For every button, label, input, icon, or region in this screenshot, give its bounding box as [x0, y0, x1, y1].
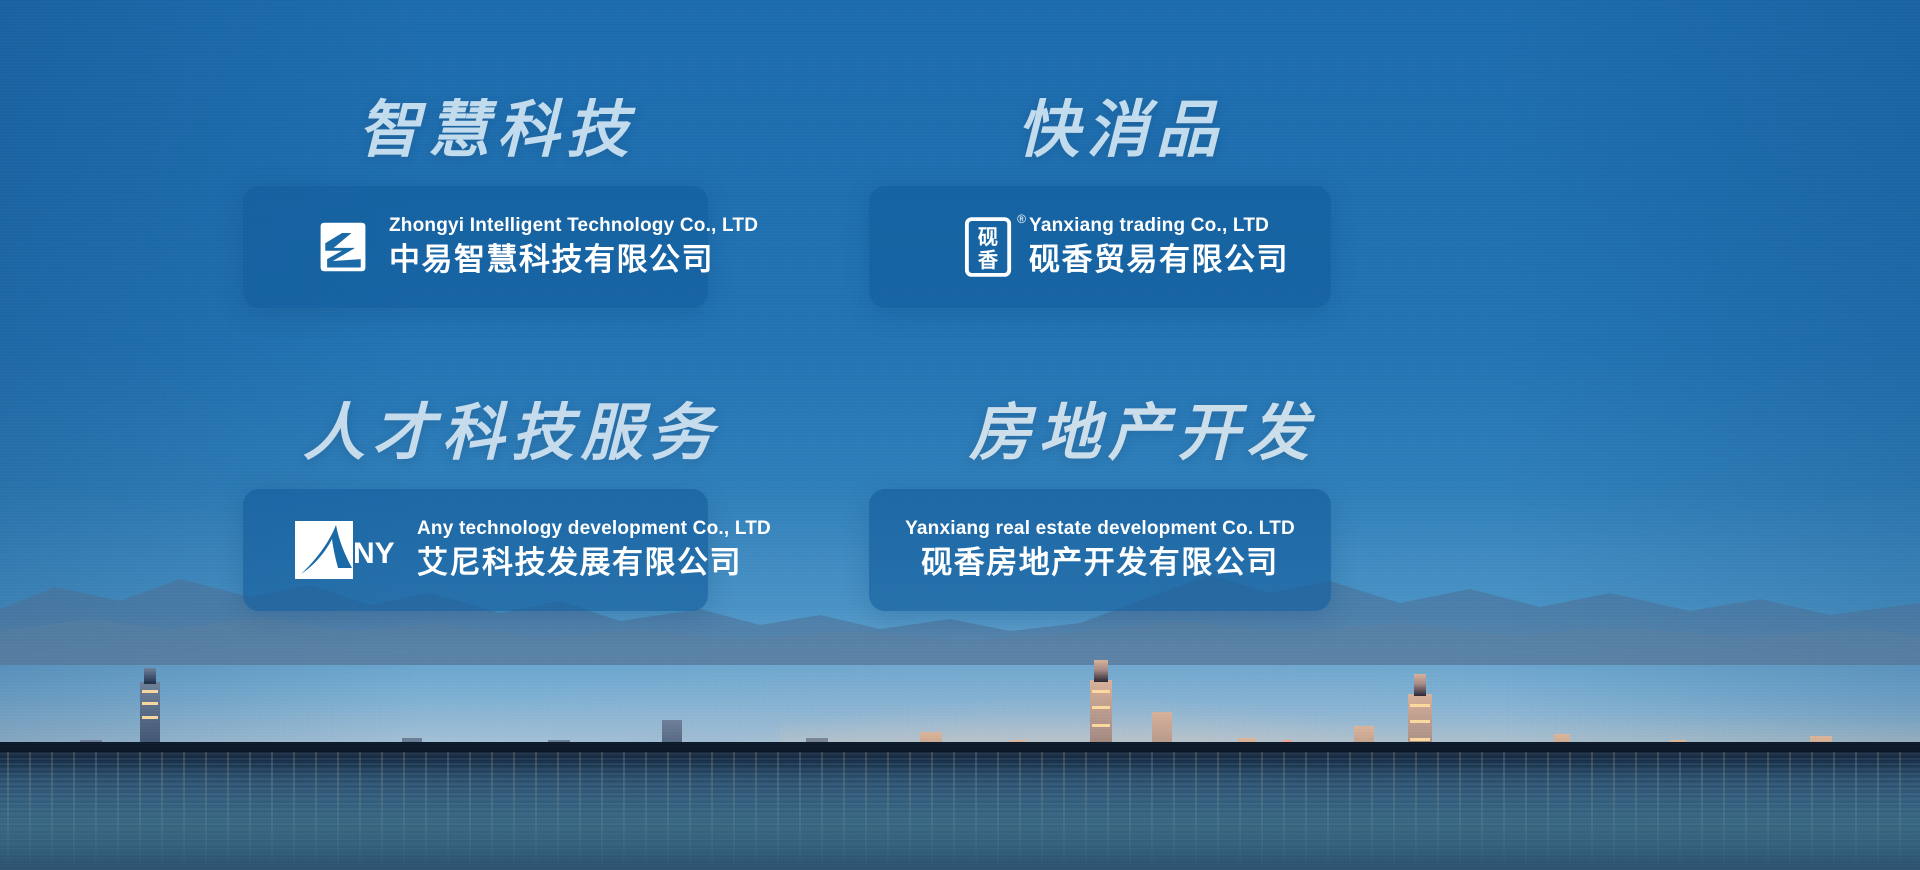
company-name-en: Zhongyi Intelligent Technology Co., LTD [389, 214, 758, 238]
section-smart-technology: 智慧科技 Zhongyi Intelligent Technology Co.,… [243, 100, 708, 308]
svg-text:砚: 砚 [978, 225, 998, 249]
company-card-any[interactable]: NY Any technology development Co., LTD 艾… [243, 489, 708, 611]
zhongyi-z-logo-glyph [315, 219, 371, 275]
company-name-cn: 砚香贸易有限公司 [1029, 240, 1289, 280]
company-name-cn: 砚香房地产开发有限公司 [921, 543, 1279, 583]
any-mountain-logo-glyph: NY [295, 521, 403, 579]
section-real-estate: 房地产开发 Yanxiang real estate development C… [869, 403, 1331, 611]
company-name-cn: 艾尼科技发展有限公司 [417, 543, 771, 583]
page-root: 智慧科技 Zhongyi Intelligent Technology Co.,… [0, 0, 1920, 870]
section-talent-services: 人才科技服务 NY Any technology development Co.… [243, 403, 708, 611]
company-name-en: Yanxiang trading Co., LTD [1029, 214, 1289, 238]
company-names: Zhongyi Intelligent Technology Co., LTD … [389, 214, 758, 280]
zhongyi-z-logo [313, 217, 373, 277]
company-names: Any technology development Co., LTD 艾尼科技… [417, 517, 771, 583]
svg-text:NY: NY [353, 537, 395, 570]
company-card-yanxiang-realestate[interactable]: Yanxiang real estate development Co. LTD… [869, 489, 1331, 611]
company-card-zhongyi[interactable]: Zhongyi Intelligent Technology Co., LTD … [243, 186, 708, 308]
section-heading: 房地产开发 [969, 403, 1331, 465]
registered-trademark-icon: ® [1017, 213, 1026, 225]
yanxiang-seal-logo-glyph: 砚 香 [964, 216, 1014, 278]
yanxiang-seal-logo: 砚 香 ® [963, 215, 1015, 279]
section-heading: 人才科技服务 [303, 403, 708, 465]
section-heading: 智慧科技 [358, 100, 708, 162]
company-card-yanxiang-trading[interactable]: 砚 香 ® Yanxiang trading Co., LTD 砚香贸易有限公司 [869, 186, 1331, 308]
company-names: Yanxiang real estate development Co. LTD… [905, 517, 1295, 583]
any-mountain-logo: NY [295, 521, 403, 579]
company-name-en: Any technology development Co., LTD [417, 517, 771, 541]
company-name-cn: 中易智慧科技有限公司 [389, 240, 758, 280]
company-names: Yanxiang trading Co., LTD 砚香贸易有限公司 [1029, 214, 1289, 280]
svg-text:香: 香 [977, 248, 999, 272]
section-fmcg: 快消品 砚 香 ® Yanxiang trading Co., LTD 砚香贸易… [869, 100, 1331, 308]
section-heading: 快消品 [1017, 100, 1331, 162]
company-name-en: Yanxiang real estate development Co. LTD [905, 517, 1295, 541]
